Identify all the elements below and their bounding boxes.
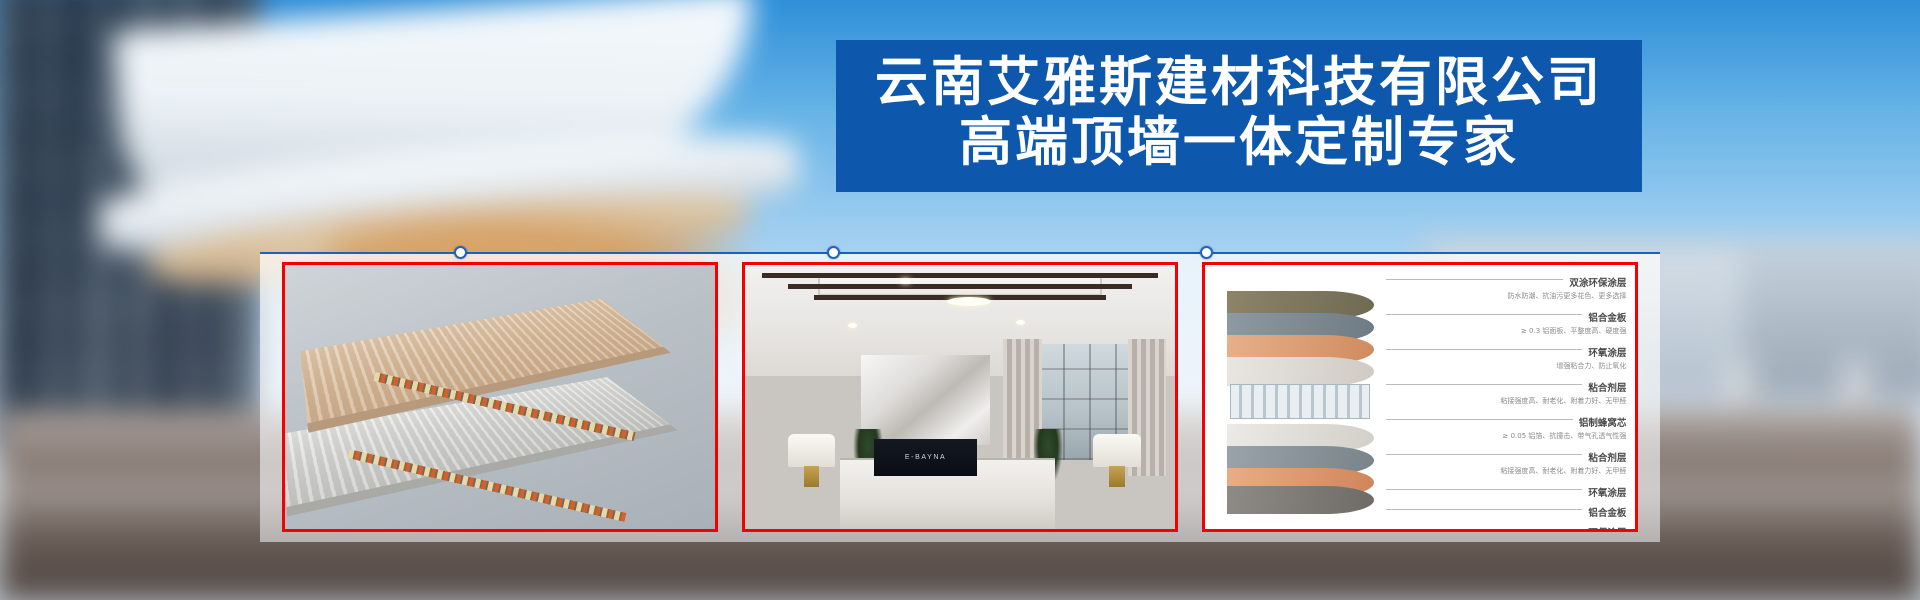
company-slogan-line: 高端顶墙一体定制专家 [959,116,1519,170]
layer-label: 双涂环保涂层 防水防潮、抗油污更多花色、更多选择 [1386,273,1627,302]
company-title-banner: 云南艾雅斯建材科技有限公司 高端顶墙一体定制专家 [836,40,1642,192]
panel-interior-showroom[interactable]: E-BAYNA [742,262,1178,532]
lamp-shade [788,434,835,467]
selection-handle-right[interactable] [1200,246,1213,259]
layer-label-desc: ≥ 0.3 铝面板、平整度高、硬度强 [1386,326,1627,337]
ceiling-trim [762,273,1158,278]
ceiling-trim [788,284,1132,289]
lamp-shade [1093,434,1140,467]
layer-label: 铝合金板 ≥ 0.3 铝面板、平整度高、硬度强 [1386,308,1627,337]
selection-handle-center[interactable] [827,246,840,259]
panel-layer-diagram[interactable]: 双涂环保涂层 防水防潮、抗油污更多花色、更多选择 铝合金板 ≥ 0.3 铝面板、… [1202,262,1638,532]
company-name-line: 云南艾雅斯建材科技有限公司 [875,56,1603,110]
gallery-panels: E-BAYNA 双涂环保涂层 防水防潮、抗油污更多花色、 [260,252,1660,542]
layer-label-desc: 粘接强度高、耐老化、附着力好、无甲醛 [1386,396,1627,407]
layer-label: 铝制蜂窝芯 ≥ 0.05 铝箔、抗撞击、带气孔透气性强 [1386,413,1627,442]
layer-label-desc: ≥ 0.05 铝箔、抗撞击、带气孔透气性强 [1386,431,1627,442]
layer-label-desc: 粘接强度高、耐老化、附着力好、无甲醛 [1386,466,1627,477]
panel-honeycomb-board[interactable] [282,262,718,532]
table-lamp [1093,434,1140,487]
layer-label: 环氧涂层 [1386,483,1627,501]
selection-handle-left[interactable] [454,246,467,259]
layer-label-name: 铝合金板 [1582,313,1626,325]
layer-label-name: 环氧涂层 [1582,488,1626,500]
layer-label-desc: 防水防潮、抗油污更多花色、更多选择 [1386,291,1627,302]
brand-logo-text: E-BAYNA [905,454,946,461]
layer-sheet [1227,357,1375,386]
ceiling-light [947,297,991,306]
layer-label: 粘合剂层 粘接强度高、耐老化、附着力好、无甲醛 [1386,448,1627,477]
layer-label-name: 铝合金板 [1582,508,1626,520]
layer-label-name: 粘合剂层 [1582,453,1626,465]
layer-label-name: 环保涂层 [1582,528,1626,532]
layer-label-name: 粘合剂层 [1582,383,1626,395]
layer-label: 环氧涂层 增强粘合力、防止氧化 [1386,343,1627,372]
layer-label: 环保涂层 [1386,523,1627,532]
layer-label-name: 环氧涂层 [1582,348,1626,360]
lamp-base [804,466,819,487]
banner-stage: 云南艾雅斯建材科技有限公司 高端顶墙一体定制专家 [0,0,1920,600]
layer-label-list: 双涂环保涂层 防水防潮、抗油污更多花色、更多选择 铝合金板 ≥ 0.3 铝面板、… [1386,273,1627,521]
aluminum-honeycomb-core [1230,384,1370,419]
layer-label-desc: 增强粘合力、防止氧化 [1386,361,1627,372]
layer-label: 粘合剂层 粘接强度高、耐老化、附着力好、无甲醛 [1386,378,1627,407]
layer-label-name: 双涂环保涂层 [1563,278,1626,290]
layer-sheet [1227,486,1375,515]
layer-label-name: 铝制蜂窝芯 [1573,418,1627,430]
lamp-base [1109,466,1124,487]
leader-line [1386,529,1627,530]
desk-display-screen: E-BAYNA [874,439,977,476]
layer-label: 铝合金板 [1386,503,1627,521]
table-lamp [788,434,835,487]
